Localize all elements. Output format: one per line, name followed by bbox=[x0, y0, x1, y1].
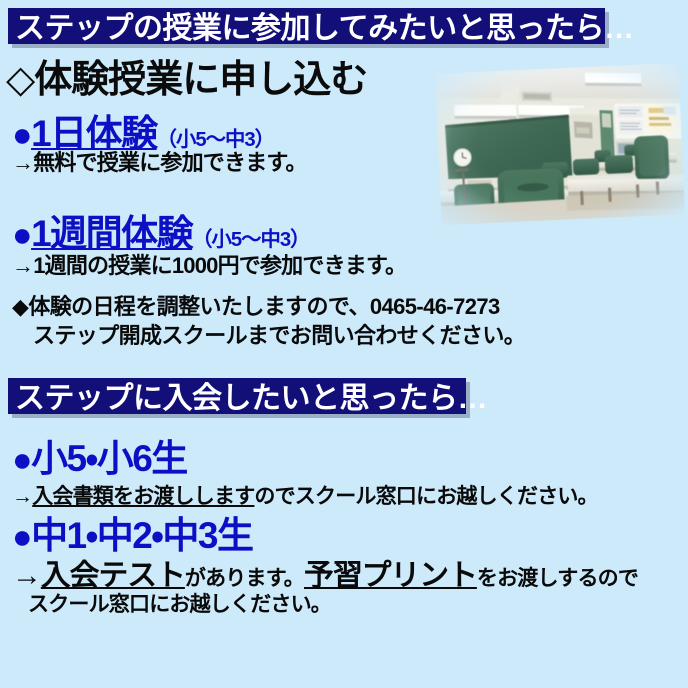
classroom-photo bbox=[435, 63, 686, 226]
classroom-photo-illustration bbox=[435, 63, 686, 226]
enroll-junior-desc-mid: があります。 bbox=[185, 567, 304, 590]
enroll-elementary-desc-rest: のでスクール窓口にお越しください。 bbox=[254, 485, 597, 508]
trial-section-banner: ステップの授業に参加してみたいと思ったら… bbox=[8, 8, 605, 44]
contact-intro-label: ◆体験の日程を調整いたしますので、 bbox=[12, 294, 370, 319]
contact-line-1: ◆体験の日程を調整いたしますので、0465-46-7273 bbox=[12, 289, 500, 321]
enroll-junior-description-line-2: スクール窓口にお越しください。 bbox=[28, 588, 331, 618]
enroll-junior-desc-line2-label: スクール窓口にお越しください。 bbox=[28, 593, 331, 616]
trial-1week-description: →1週間の授業に1000円で参加できます。 bbox=[12, 248, 406, 280]
bullet-dot-icon: ● bbox=[12, 441, 31, 479]
contact-phone-number: 0465-46-7273 bbox=[370, 294, 500, 319]
flyer-page: ステップの授業に参加してみたいと思ったら… ◇体験授業に申し込む ●1日体験（小… bbox=[0, 0, 688, 688]
enroll-elementary-label: 小5・小6生 bbox=[31, 438, 187, 479]
enroll-item-elementary-title: ●小5・小6生 bbox=[12, 428, 187, 482]
trial-banner-label: ステップの授業に参加してみたいと思ったら… bbox=[15, 3, 634, 47]
enroll-banner-label: ステップに入会したいと思ったら… bbox=[15, 373, 487, 417]
enroll-junior-desc-tail: をお渡しするので bbox=[477, 567, 638, 590]
contact-school-label: ステップ開成スクールまでお問い合わせください。 bbox=[33, 323, 525, 348]
trial-1day-description-label: →無料で授業に参加できます。 bbox=[12, 150, 307, 175]
trial-1day-description: →無料で授業に参加できます。 bbox=[12, 145, 307, 177]
contact-line-2: ステップ開成スクールまでお問い合わせください。 bbox=[33, 318, 525, 350]
trial-1week-description-label: →1週間の授業に1000円で参加できます。 bbox=[12, 253, 406, 278]
trial-heading-label: ◇体験授業に申し込む bbox=[6, 59, 367, 101]
enroll-section-banner: ステップに入会したいと思ったら… bbox=[8, 378, 466, 414]
trial-section-heading: ◇体験授業に申し込む bbox=[6, 48, 367, 103]
